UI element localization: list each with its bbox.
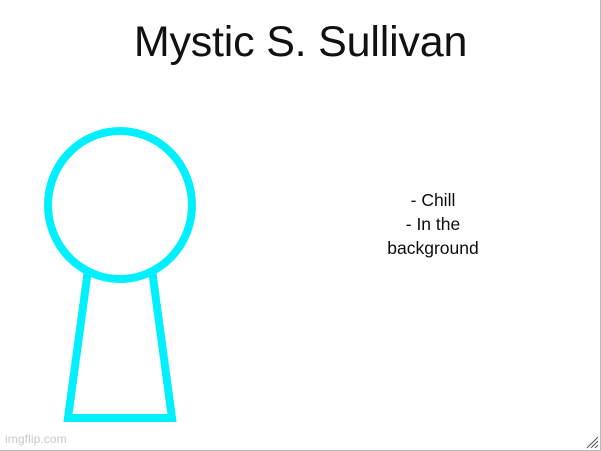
notes-text-block: - Chill - In the background <box>358 188 508 260</box>
figure-body-shape <box>68 270 172 418</box>
meme-canvas: Mystic S. Sullivan - Chill - In the back… <box>0 0 601 451</box>
resize-grip-icon[interactable] <box>584 434 599 449</box>
figure-head-shape <box>48 131 192 279</box>
note-line: - Chill <box>358 188 508 212</box>
imgflip-watermark: imgflip.com <box>5 432 67 446</box>
resize-grip-glyph <box>584 434 599 449</box>
page-title: Mystic S. Sullivan <box>0 18 601 67</box>
note-line: - In the background <box>358 212 508 260</box>
keyhole-figure-svg <box>30 115 230 440</box>
keyhole-figure-drawing <box>30 115 230 440</box>
